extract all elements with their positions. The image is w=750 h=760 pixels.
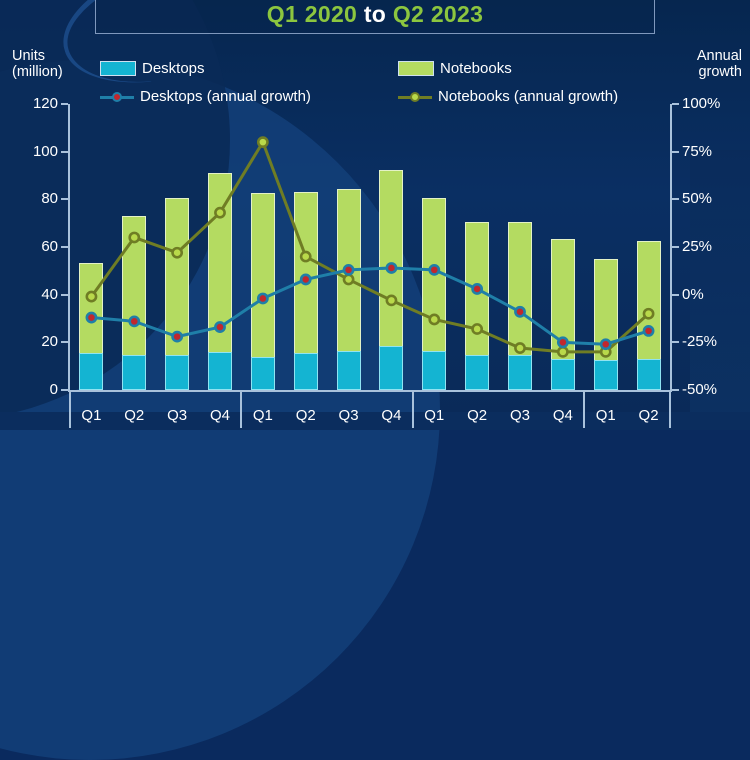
right-tick [672, 151, 679, 153]
legend-item-notebooks-growth[interactable]: Notebooks (annual growth) [398, 88, 618, 105]
x-axis-label: Q2 [456, 407, 499, 424]
left-tick [61, 294, 68, 296]
left-tick [61, 389, 68, 391]
right-axis-caption-line1: Annual [697, 48, 742, 64]
page-title: Q1 2020 to Q2 2023 [96, 1, 654, 28]
left-tick-label: 80 [18, 191, 58, 206]
right-tick-label: 75% [682, 144, 742, 159]
desktops-growth-marker[interactable] [258, 294, 267, 303]
notebooks-growth-marker[interactable] [430, 315, 439, 324]
x-axis-label: Q1 [70, 407, 113, 424]
desktops-growth-marker[interactable] [430, 265, 439, 274]
x-axis-label: Q2 [627, 407, 670, 424]
notebooks-growth-marker[interactable] [301, 252, 310, 261]
right-tick [672, 246, 679, 248]
title-box: Q1 2020 to Q2 2023 [95, 0, 655, 34]
right-tick-label: 25% [682, 239, 742, 254]
left-tick [61, 103, 68, 105]
left-axis-caption: Units (million) [12, 48, 63, 80]
left-tick [61, 341, 68, 343]
legend-item-desktops[interactable]: Desktops [100, 60, 205, 77]
left-tick-label: 0 [18, 382, 58, 397]
legend-label-desktops: Desktops [142, 60, 205, 77]
left-tick-label: 120 [18, 96, 58, 111]
legend-label-notebooks-growth: Notebooks (annual growth) [438, 88, 618, 105]
right-tick-label: -50% [682, 382, 742, 397]
x-axis-label: Q4 [370, 407, 413, 424]
notebooks-growth-marker[interactable] [215, 208, 224, 217]
x-axis-label: Q4 [199, 407, 242, 424]
right-axis-caption-line2: growth [697, 64, 742, 80]
legend-label-desktops-growth: Desktops (annual growth) [140, 88, 311, 105]
year-separator [69, 390, 71, 428]
right-tick [672, 294, 679, 296]
notebooks-growth-marker[interactable] [473, 324, 482, 333]
year-separator [669, 390, 671, 428]
left-axis-caption-line2: (million) [12, 64, 63, 80]
desktops-growth-marker[interactable] [644, 326, 653, 335]
x-axis-label: Q1 [584, 407, 627, 424]
desktops-growth-marker[interactable] [130, 317, 139, 326]
x-axis-label: Q1 [413, 407, 456, 424]
notebooks-growth-marker[interactable] [558, 347, 567, 356]
chart-plot-area: 020406080100120 -50%-25%0%25%50%75%100% … [70, 104, 670, 390]
chart-legend: Desktops Notebooks Desktops (annual grow… [100, 60, 660, 110]
desktops-growth-marker[interactable] [87, 313, 96, 322]
left-tick [61, 246, 68, 248]
desktops-growth-marker[interactable] [515, 307, 524, 316]
right-tick [672, 341, 679, 343]
desktops-growth-marker[interactable] [173, 332, 182, 341]
title-range-end: Q2 2023 [393, 1, 483, 27]
notebooks-growth-line-icon [398, 91, 432, 103]
year-separator [412, 390, 414, 428]
desktops-growth-marker[interactable] [301, 275, 310, 284]
x-axis-label: Q2 [284, 407, 327, 424]
right-tick-label: 50% [682, 191, 742, 206]
notebooks-growth-marker[interactable] [87, 292, 96, 301]
x-axis-label: Q2 [113, 407, 156, 424]
left-tick [61, 151, 68, 153]
x-axis-label: Q1 [241, 407, 284, 424]
desktops-growth-marker[interactable] [601, 340, 610, 349]
desktops-growth-marker[interactable] [344, 265, 353, 274]
left-tick-label: 40 [18, 287, 58, 302]
right-tick-label: 100% [682, 96, 742, 111]
title-range-connector: to [357, 1, 393, 27]
year-separator [240, 390, 242, 428]
right-tick-label: 0% [682, 287, 742, 302]
growth-lines [70, 104, 670, 390]
notebooks-growth-marker[interactable] [130, 233, 139, 242]
desktops-growth-marker[interactable] [215, 322, 224, 331]
x-axis-label: Q3 [156, 407, 199, 424]
x-axis-label: Q3 [499, 407, 542, 424]
left-tick-label: 100 [18, 144, 58, 159]
notebooks-growth-marker[interactable] [173, 248, 182, 257]
legend-item-notebooks[interactable]: Notebooks [398, 60, 512, 77]
desktops-swatch-icon [100, 61, 136, 76]
desktops-growth-marker[interactable] [558, 338, 567, 347]
left-tick-label: 20 [18, 334, 58, 349]
notebooks-swatch-icon [398, 61, 434, 76]
notebooks-growth-marker[interactable] [515, 343, 524, 352]
title-range-start: Q1 2020 [267, 1, 357, 27]
legend-label-notebooks: Notebooks [440, 60, 512, 77]
left-tick-label: 60 [18, 239, 58, 254]
left-tick [61, 198, 68, 200]
notebooks-growth-marker[interactable] [344, 275, 353, 284]
left-axis-caption-line1: Units [12, 48, 63, 64]
x-axis-line [68, 390, 672, 392]
x-axis-label: Q4 [541, 407, 584, 424]
legend-item-desktops-growth[interactable]: Desktops (annual growth) [100, 88, 311, 105]
right-tick [672, 103, 679, 105]
desktops-growth-line-icon [100, 91, 134, 103]
right-tick [672, 389, 679, 391]
notebooks-growth-marker[interactable] [258, 138, 267, 147]
desktops-growth-marker[interactable] [473, 284, 482, 293]
right-tick-label: -25% [682, 334, 742, 349]
year-separator [583, 390, 585, 428]
desktops-growth-marker[interactable] [387, 263, 396, 272]
right-tick [672, 198, 679, 200]
notebooks-growth-path [91, 142, 648, 352]
notebooks-growth-marker[interactable] [387, 296, 396, 305]
x-axis-label: Q3 [327, 407, 370, 424]
right-axis-caption: Annual growth [697, 48, 742, 80]
notebooks-growth-marker[interactable] [644, 309, 653, 318]
